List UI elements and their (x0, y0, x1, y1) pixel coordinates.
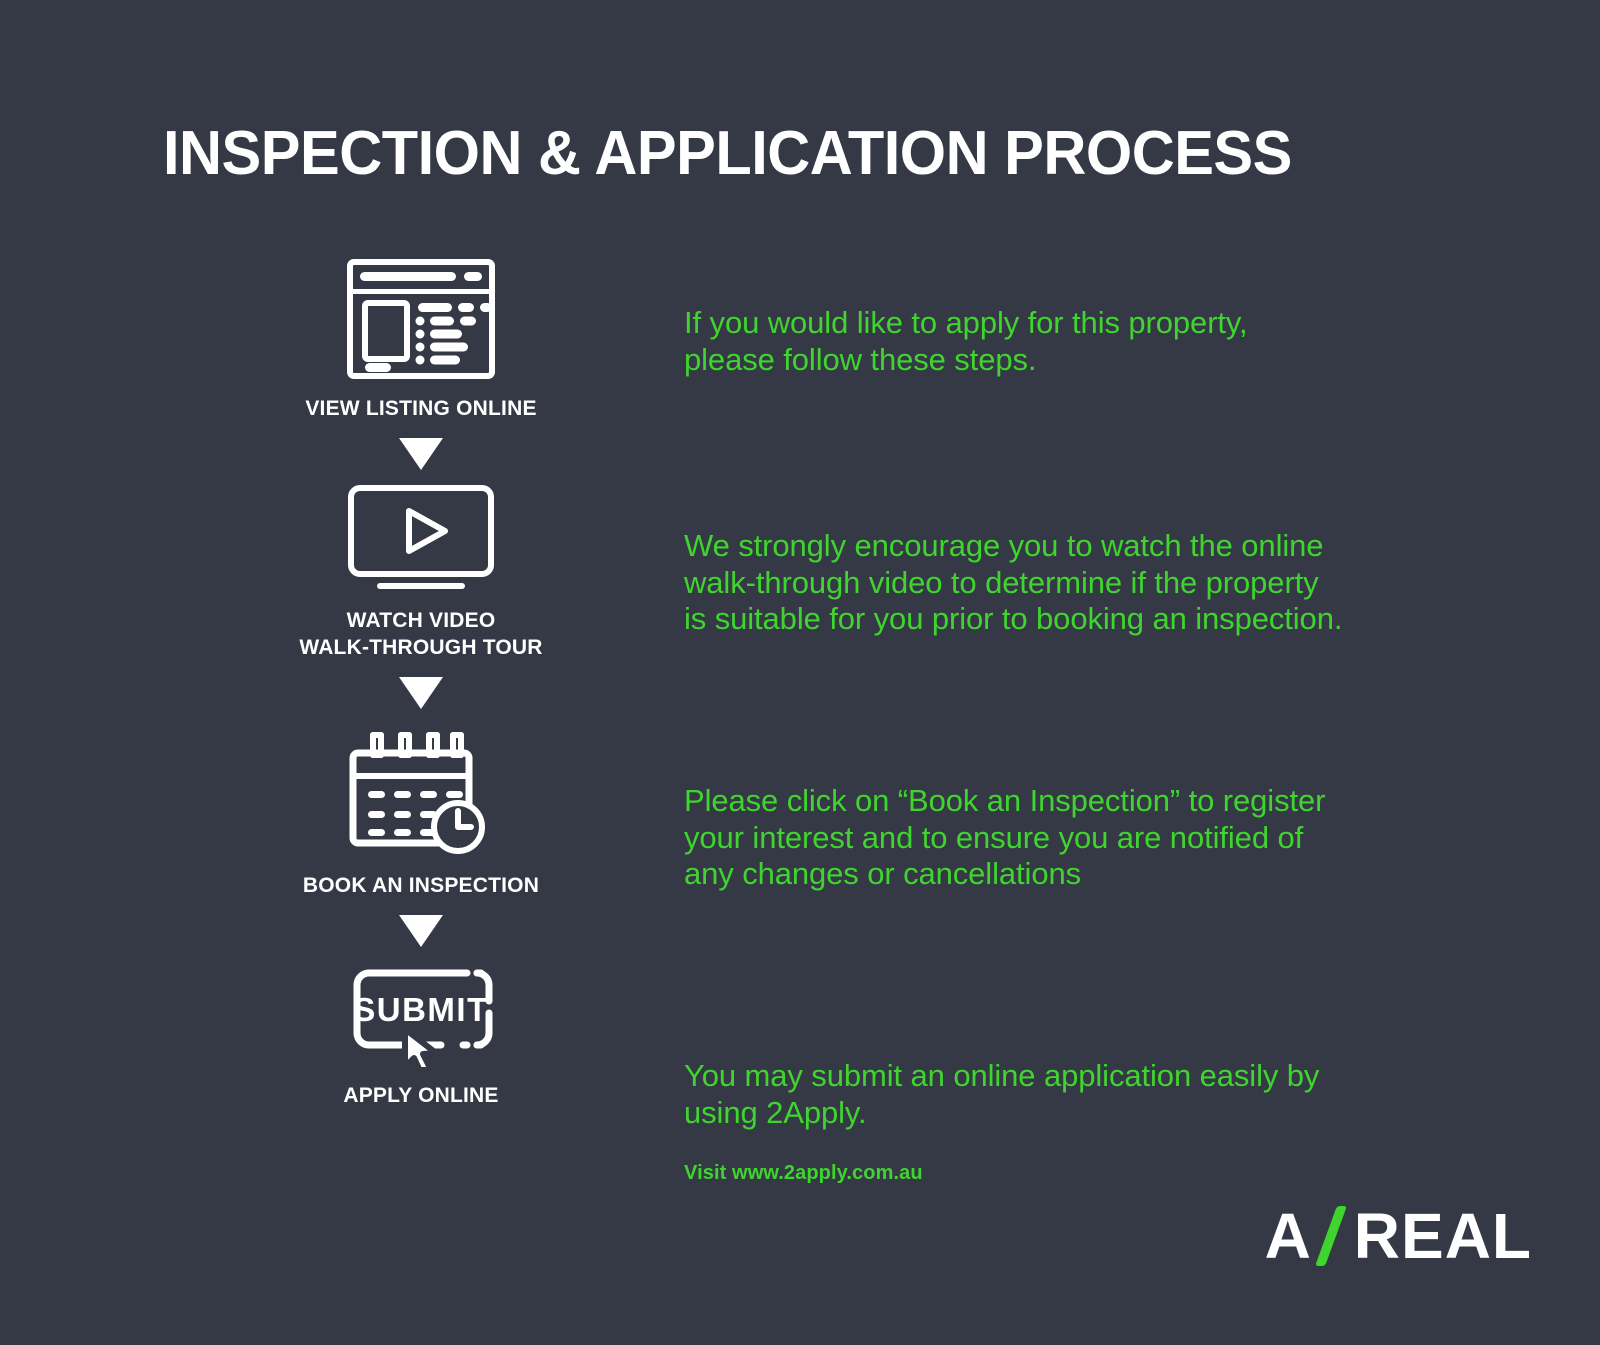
submit-button-cursor-icon: SUBMIT (345, 961, 497, 1067)
step-label-watch-video: WATCH VIDEO WALK-THROUGH TOUR (299, 608, 542, 661)
flow-arrow-3 (399, 915, 443, 947)
logo-letter-a: A (1265, 1204, 1312, 1268)
process-flow-column: VIEW LISTING ONLINE WATCH VIDEO WALK-THR… (268, 258, 574, 1109)
step-apply-online: SUBMIT APPLY ONLINE (268, 961, 574, 1109)
logo-slash-icon (1315, 1206, 1347, 1266)
step-watch-video: WATCH VIDEO WALK-THROUGH TOUR (268, 484, 574, 661)
copy-watch-video: We strongly encourage you to watch the o… (684, 528, 1424, 638)
infographic-poster: INSPECTION & APPLICATION PROCESS (0, 0, 1600, 1345)
step-label-apply-online: APPLY ONLINE (343, 1083, 498, 1109)
copy-apply-online: You may submit an online application eas… (684, 1058, 1404, 1131)
step-label-view-listing-online: VIEW LISTING ONLINE (305, 396, 536, 422)
page-title: INSPECTION & APPLICATION PROCESS (163, 123, 1292, 185)
copy-view-listing-online: If you would like to apply for this prop… (684, 305, 1384, 378)
step-book-inspection: BOOK AN INSPECTION (268, 723, 574, 899)
video-player-icon (347, 484, 495, 592)
flow-arrow-2 (399, 677, 443, 709)
step-label-book-inspection: BOOK AN INSPECTION (303, 873, 539, 899)
copy-book-inspection: Please click on “Book an Inspection” to … (684, 783, 1404, 893)
calendar-clock-icon (348, 723, 494, 857)
flow-arrow-1 (399, 438, 443, 470)
browser-listing-icon (346, 258, 496, 380)
step-view-listing-online: VIEW LISTING ONLINE (268, 258, 574, 422)
svg-text:SUBMIT: SUBMIT (353, 991, 489, 1028)
logo-wordmark-real: REAL (1354, 1204, 1532, 1268)
logo-a-real: A REAL (1265, 1205, 1532, 1267)
visit-2apply-link[interactable]: Visit www.2apply.com.au (684, 1162, 923, 1185)
